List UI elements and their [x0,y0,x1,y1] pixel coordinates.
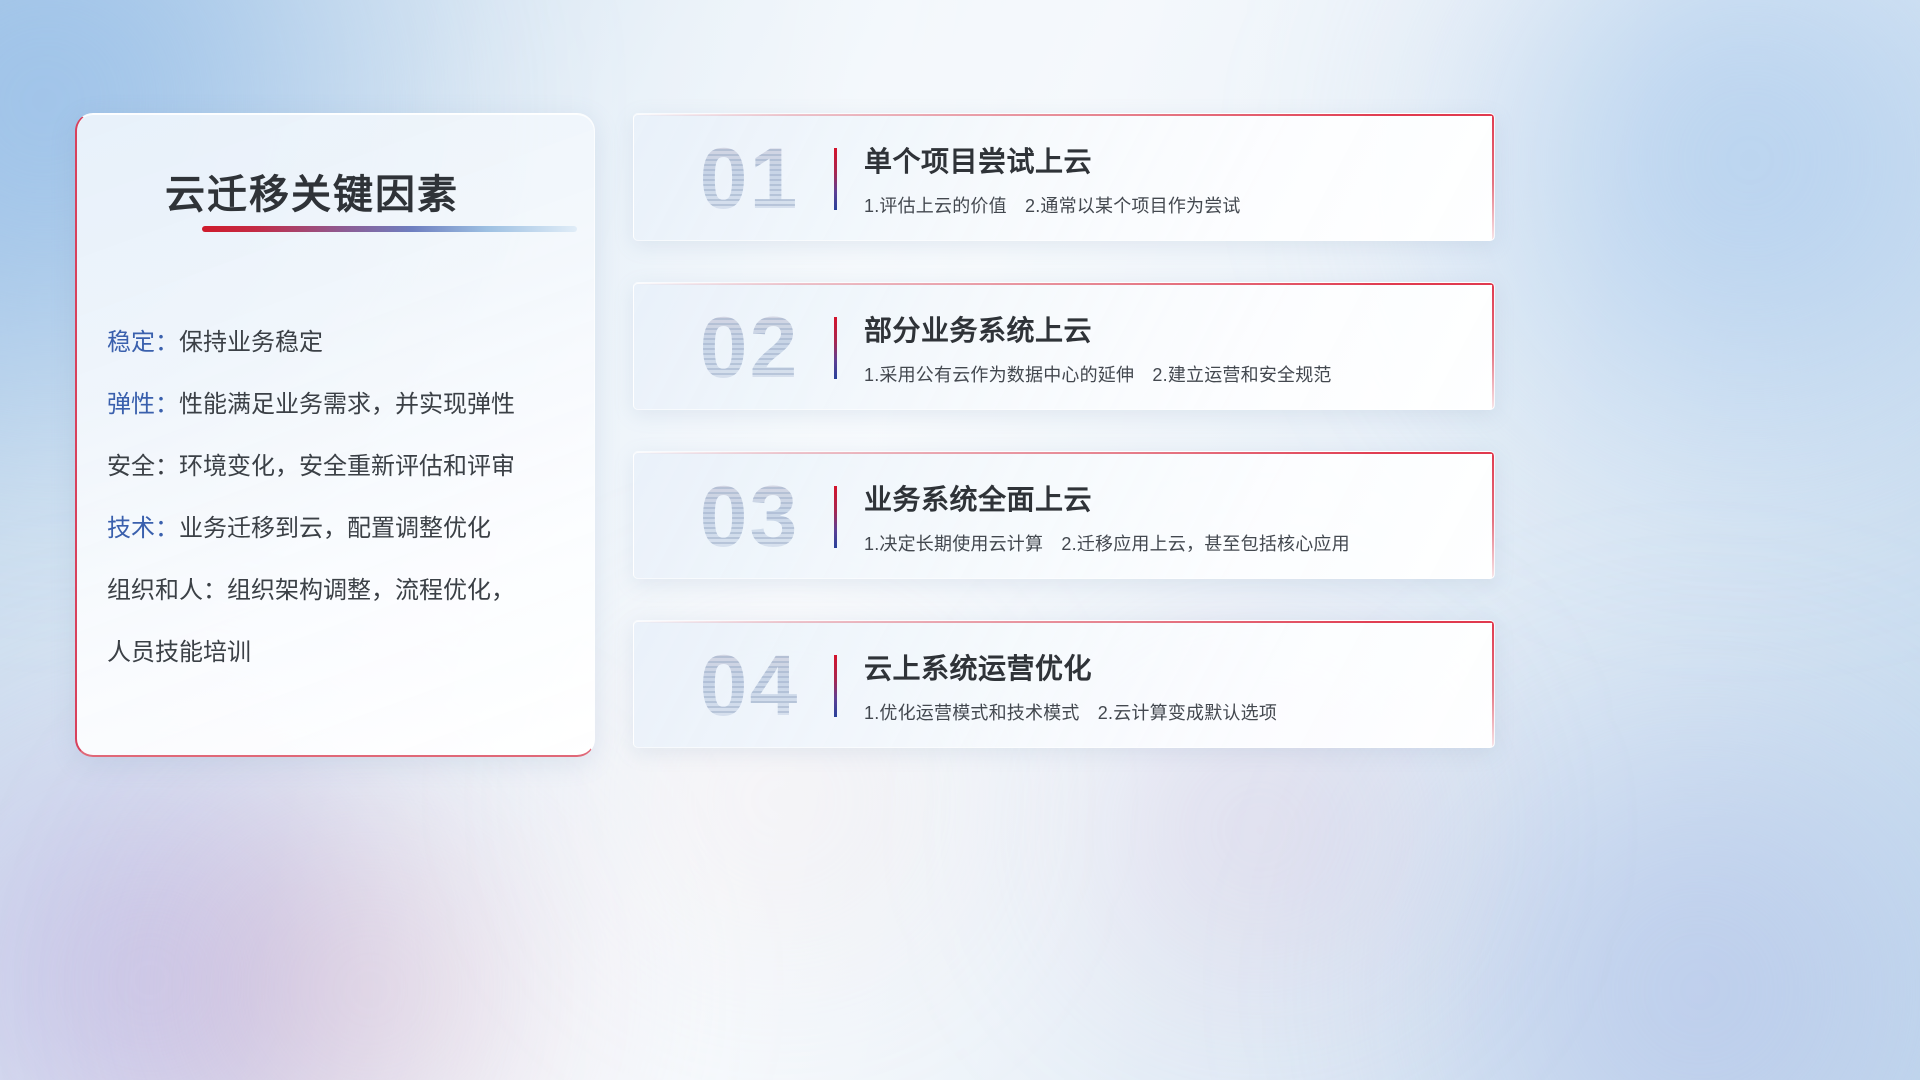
list-item: 安全：环境变化，安全重新评估和评审 [107,436,576,498]
list-item-label: 技术： [107,515,179,542]
card-divider-bar [834,486,837,548]
list-item: 技术：业务迁移到云，配置调整优化 [107,498,576,560]
list-item-label: 弹性： [107,391,179,418]
stage-card-description: 1.评估上云的价值 2.通常以某个项目作为尝试 [864,192,1466,218]
page-title: 云迁移关键因素 [165,162,459,220]
stage-card-01[interactable]: 01 单个项目尝试上云 1.评估上云的价值 2.通常以某个项目作为尝试 [633,113,1495,241]
list-item-text: 保持业务稳定 [179,329,323,356]
list-item-label: 组织和人： [107,577,227,604]
stage-card-03[interactable]: 03 业务系统全面上云 1.决定长期使用云计算 2.迁移应用上云，甚至包括核心应… [633,451,1495,579]
list-item-label: 稳定： [107,329,179,356]
list-item: 弹性：性能满足业务需求，并实现弹性 [107,374,576,436]
slide-stage: 云迁移关键因素 稳定：保持业务稳定 弹性：性能满足业务需求，并实现弹性 安全：环… [0,0,1920,1080]
card-top-accent-line [634,621,1494,623]
list-item: 人员技能培训 [107,622,576,684]
stage-card-title: 单个项目尝试上云 [864,140,1466,180]
card-right-accent-line [1492,452,1494,578]
list-item-text: 人员技能培训 [107,639,251,666]
stage-card-description: 1.优化运营模式和技术模式 2.云计算变成默认选项 [864,699,1466,725]
card-divider-bar [834,148,837,210]
stage-number-watermark: 03 [662,462,837,572]
stage-card-description: 1.采用公有云作为数据中心的延伸 2.建立运营和安全规范 [864,361,1466,387]
list-item: 组织和人：组织架构调整，流程优化， [107,560,576,622]
stage-card-title: 部分业务系统上云 [864,309,1466,349]
card-right-accent-line [1492,621,1494,747]
card-right-accent-line [1492,283,1494,409]
stage-number-watermark: 02 [662,293,837,403]
title-underline-gradient [202,226,577,232]
migration-stage-cards: 01 单个项目尝试上云 1.评估上云的价值 2.通常以某个项目作为尝试 02 部… [633,113,1495,789]
card-divider-bar [834,317,837,379]
list-item: 稳定：保持业务稳定 [107,312,576,374]
list-item-text: 组织架构调整，流程优化， [227,577,515,604]
key-factors-panel: 云迁移关键因素 稳定：保持业务稳定 弹性：性能满足业务需求，并实现弹性 安全：环… [75,113,595,757]
stage-number-watermark: 04 [662,631,837,741]
card-divider-bar [834,655,837,717]
list-item-text: 环境变化，安全重新评估和评审 [179,453,515,480]
card-top-accent-line [634,283,1494,285]
list-item-label: 安全： [107,453,179,480]
stage-card-04[interactable]: 04 云上系统运营优化 1.优化运营模式和技术模式 2.云计算变成默认选项 [633,620,1495,748]
stage-card-02[interactable]: 02 部分业务系统上云 1.采用公有云作为数据中心的延伸 2.建立运营和安全规范 [633,282,1495,410]
card-top-accent-line [634,452,1494,454]
list-item-text: 业务迁移到云，配置调整优化 [179,515,491,542]
key-factors-list: 稳定：保持业务稳定 弹性：性能满足业务需求，并实现弹性 安全：环境变化，安全重新… [107,312,576,684]
stage-number-watermark: 01 [662,124,837,234]
stage-card-title: 云上系统运营优化 [864,647,1466,687]
card-right-accent-line [1492,114,1494,240]
stage-card-title: 业务系统全面上云 [864,478,1466,518]
list-item-text: 性能满足业务需求，并实现弹性 [179,391,515,418]
card-top-accent-line [634,114,1494,116]
stage-card-description: 1.决定长期使用云计算 2.迁移应用上云，甚至包括核心应用 [864,530,1466,556]
